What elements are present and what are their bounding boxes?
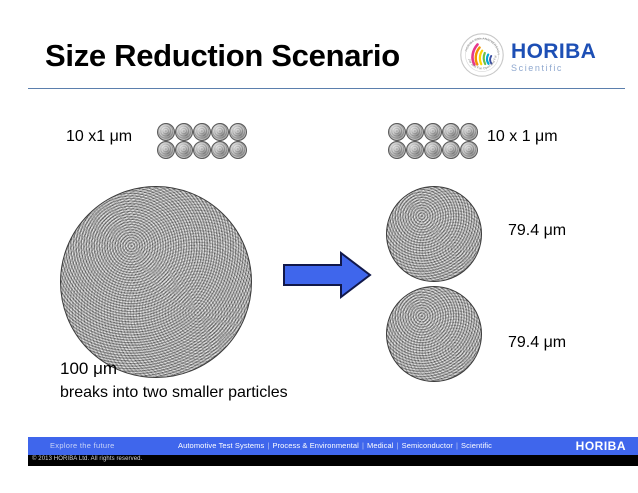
small-particle	[406, 141, 424, 159]
before-small-particles-label: 10 x1 μm	[66, 128, 132, 146]
small-particle	[229, 141, 247, 159]
small-particle	[460, 123, 478, 141]
horiba-wordmark: HORIBA Scientific	[511, 41, 616, 73]
small-particle	[388, 141, 406, 159]
footer-tagline: Explore the future	[50, 441, 115, 450]
footer-segment: Semiconductor	[402, 441, 453, 450]
small-particle	[442, 141, 460, 159]
after-small-particles-label: 10 x 1 μm	[487, 128, 558, 146]
small-particle	[388, 123, 406, 141]
footer-segment-divider: |	[453, 441, 461, 450]
header-divider	[28, 88, 625, 89]
slide-title: Size Reduction Scenario	[45, 38, 400, 74]
footer-copyright-bar: © 2013 HORIBA Ltd. All rights reserved.	[28, 455, 638, 466]
horiba-tagline-text: Scientific	[511, 63, 616, 73]
footer-horiba-wordmark: HORIBA	[576, 439, 626, 453]
small-particle	[193, 123, 211, 141]
small-particle	[193, 141, 211, 159]
horiba-60th-anniversary-emblem-icon: HORIBA 60th ANNIVERSARY Joy and Fun Open…	[459, 32, 505, 78]
small-particle	[211, 141, 229, 159]
small-particle	[229, 123, 247, 141]
small-particle	[157, 123, 175, 141]
parent-particle-100um	[60, 186, 252, 378]
footer-segment: Automotive Test Systems	[178, 441, 264, 450]
slide-canvas: Size Reduction Scenario HORIBA 60th ANNI…	[0, 0, 638, 493]
parent-particle-note: breaks into two smaller particles	[60, 381, 288, 405]
small-particle	[424, 141, 442, 159]
child-particle-1-label: 79.4 μm	[508, 222, 566, 240]
horiba-wordmark-text: HORIBA	[511, 41, 616, 62]
footer-segment-divider: |	[394, 441, 402, 450]
horiba-logo: HORIBA 60th ANNIVERSARY Joy and Fun Open…	[455, 30, 620, 82]
footer-segment-divider: |	[359, 441, 367, 450]
small-particle	[211, 123, 229, 141]
small-particle	[460, 141, 478, 159]
child-particle-2	[386, 286, 482, 382]
small-particle	[175, 141, 193, 159]
child-particle-2-label: 79.4 μm	[508, 334, 566, 352]
footer-bar: Explore the future Automotive Test Syste…	[28, 437, 638, 455]
footer-copyright-text: © 2013 HORIBA Ltd. All rights reserved.	[32, 456, 142, 462]
footer-segment: Process & Environmental	[272, 441, 359, 450]
small-particle	[157, 141, 175, 159]
parent-particle-caption: 100 μm breaks into two smaller particles	[60, 357, 288, 405]
right-arrow-icon	[283, 251, 372, 299]
before-small-particle-cluster	[157, 123, 254, 159]
child-particle-1	[386, 186, 482, 282]
small-particle	[424, 123, 442, 141]
small-particle	[406, 123, 424, 141]
parent-particle-size-label: 100 μm	[60, 357, 288, 381]
small-particle	[175, 123, 193, 141]
after-small-particle-cluster	[388, 123, 485, 159]
footer-segment: Scientific	[461, 441, 492, 450]
footer-segment-list: Automotive Test Systems|Process & Enviro…	[178, 441, 492, 450]
small-particle	[442, 123, 460, 141]
footer-segment: Medical	[367, 441, 394, 450]
